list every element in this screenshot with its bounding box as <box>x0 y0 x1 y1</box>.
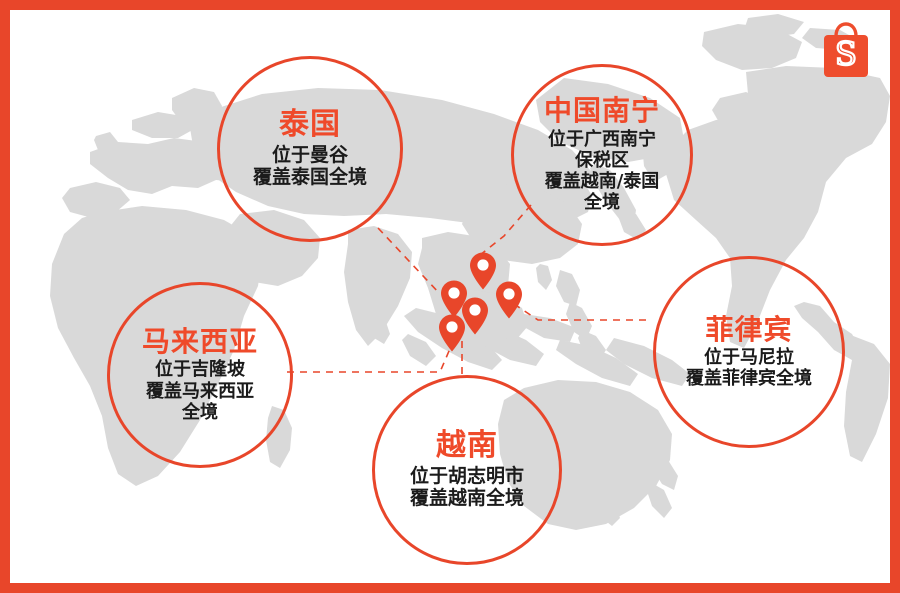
connector-philippines <box>508 300 646 320</box>
bubble-vietnam-line-1: 位于胡志明市 <box>410 465 524 487</box>
bubble-thailand[interactable]: 泰国 位于曼谷 覆盖泰国全境 <box>217 56 403 242</box>
bubble-nanning-lines: 位于广西南宁 保税区 覆盖越南/泰国 全境 <box>545 129 660 214</box>
shopee-logo-letter: S <box>835 35 857 73</box>
connector-thailand <box>378 228 440 294</box>
shopee-bag-logo: S <box>818 20 874 82</box>
connector-nanning <box>480 205 531 255</box>
bubble-thailand-title: 泰国 <box>279 109 341 141</box>
bubble-philippines-line-2: 覆盖菲律宾全境 <box>686 368 812 389</box>
bubble-malaysia-line-1: 位于吉隆坡 <box>146 359 254 380</box>
bubble-malaysia-lines: 位于吉隆坡 覆盖马来西亚 全境 <box>146 359 254 423</box>
bubble-philippines-title: 菲律宾 <box>705 315 792 344</box>
bubble-nanning-line-3: 覆盖越南/泰国 <box>545 171 660 192</box>
bubble-nanning-title: 中国南宁 <box>544 96 660 125</box>
bubble-thailand-lines: 位于曼谷 覆盖泰国全境 <box>253 144 367 189</box>
bubble-philippines-line-1: 位于马尼拉 <box>686 347 812 368</box>
infographic-canvas: 泰国 位于曼谷 覆盖泰国全境 中国南宁 位于广西南宁 保税区 覆盖越南/泰国 全… <box>10 10 890 583</box>
bubble-vietnam-title: 越南 <box>436 430 498 462</box>
bubble-vietnam-line-2: 覆盖越南全境 <box>410 487 524 509</box>
bubble-vietnam[interactable]: 越南 位于胡志明市 覆盖越南全境 <box>372 375 562 565</box>
bubble-thailand-line-2: 覆盖泰国全境 <box>253 166 367 188</box>
bubble-vietnam-lines: 位于胡志明市 覆盖越南全境 <box>410 465 524 510</box>
bubble-philippines-lines: 位于马尼拉 覆盖菲律宾全境 <box>686 347 812 389</box>
bubble-nanning-line-2: 保税区 <box>545 150 660 171</box>
bubble-malaysia-title: 马来西亚 <box>142 327 258 356</box>
bubble-nanning-line-1: 位于广西南宁 <box>545 129 660 150</box>
map-pin-southwest[interactable] <box>437 313 467 353</box>
map-pin-east[interactable] <box>494 280 524 320</box>
infographic-frame: 泰国 位于曼谷 覆盖泰国全境 中国南宁 位于广西南宁 保税区 覆盖越南/泰国 全… <box>0 0 900 593</box>
bubble-malaysia-line-2: 覆盖马来西亚 <box>146 381 254 402</box>
bubble-malaysia[interactable]: 马来西亚 位于吉隆坡 覆盖马来西亚 全境 <box>107 282 293 468</box>
bubble-thailand-line-1: 位于曼谷 <box>253 144 367 166</box>
connector-malaysia <box>287 330 458 372</box>
bubble-nanning[interactable]: 中国南宁 位于广西南宁 保税区 覆盖越南/泰国 全境 <box>511 64 693 246</box>
bubble-philippines[interactable]: 菲律宾 位于马尼拉 覆盖菲律宾全境 <box>653 256 845 448</box>
bubble-malaysia-line-3: 全境 <box>146 402 254 423</box>
bubble-nanning-line-4: 全境 <box>545 192 660 213</box>
